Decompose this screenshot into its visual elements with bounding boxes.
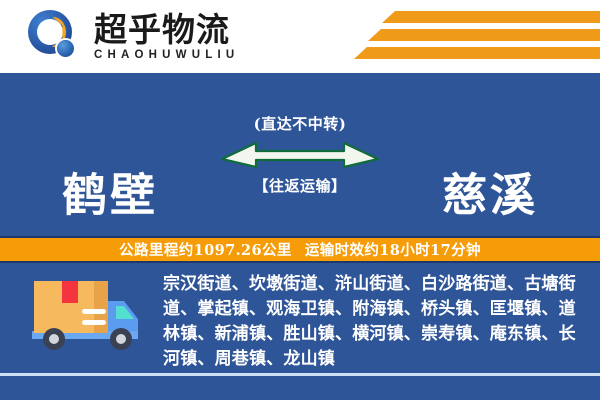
transit-duration-text: 运输时效约18小时17分钟: [305, 242, 481, 259]
stripe-3: [354, 47, 600, 59]
road-distance-text: 公路里程约1097.26公里: [119, 242, 292, 259]
brand-name-cn: 超乎物流: [94, 13, 239, 48]
route-arrow-block: (直达不中转) 【往返运输】: [205, 113, 395, 196]
brand-lockup: 超乎物流 CHAOHUWULIU: [26, 8, 239, 66]
route-section: 鹤壁 (直达不中转) 【往返运输】 慈溪: [0, 73, 600, 236]
logistics-q-circle-logo-icon: [26, 8, 84, 66]
service-areas-list: 宗汉街道、坎墩街道、浒山街道、白沙路街道、古塘街道、掌起镇、观海卫镇、附海镇、桥…: [163, 272, 585, 372]
delivery-truck-icon: [24, 275, 142, 357]
stripe-2: [368, 29, 600, 41]
destination-city: 慈溪: [442, 159, 538, 224]
distance-duration-banner: 公路里程约1097.26公里运输时效约18小时17分钟: [0, 236, 600, 263]
round-trip-label: 【往返运输】: [205, 175, 395, 196]
origin-city: 鹤壁: [62, 159, 158, 224]
logo-dot-shape: [57, 40, 74, 57]
brand-text-block: 超乎物流 CHAOHUWULIU: [94, 13, 239, 62]
stripe-1: [382, 11, 600, 23]
banner-text-row: 公路里程约1097.26公里运输时效约18小时17分钟: [119, 239, 481, 260]
footer-strip: [0, 376, 600, 400]
direct-shipping-label: (直达不中转): [205, 113, 395, 134]
service-areas-section: 宗汉街道、坎墩街道、浒山街道、白沙路街道、古塘街道、掌起镇、观海卫镇、附海镇、桥…: [0, 263, 600, 373]
header: 超乎物流 CHAOHUWULIU: [0, 0, 600, 73]
poster-root: 超乎物流 CHAOHUWULIU 鹤壁 (直达不中转) 【往返运输】 慈溪 公路…: [0, 0, 600, 400]
brand-name-en: CHAOHUWULIU: [94, 49, 239, 61]
double-headed-arrow-icon: [218, 137, 382, 171]
orange-speed-stripes-icon: [350, 8, 600, 66]
